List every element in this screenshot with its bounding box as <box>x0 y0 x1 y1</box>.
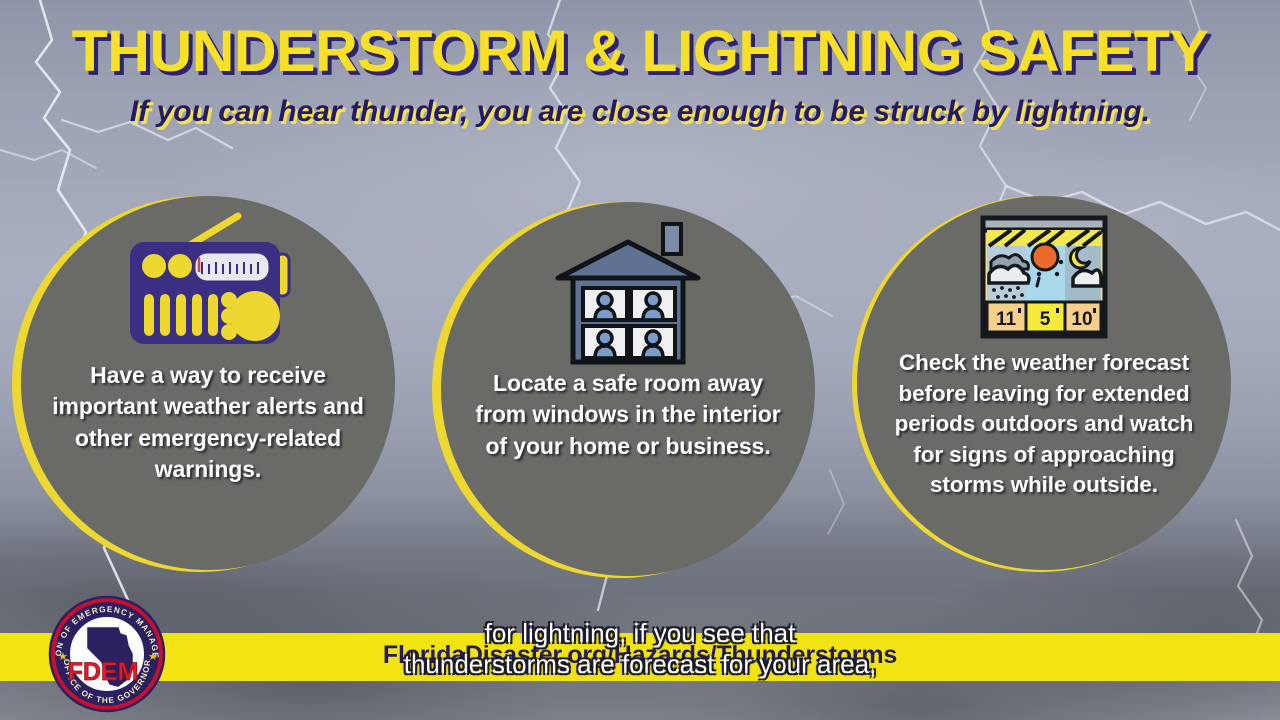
house-safe-room-icon <box>553 220 703 366</box>
card-caption-1: Have a way to receive important weather … <box>52 360 364 485</box>
subtitle-line-2: thunderstorms are forecast for your area… <box>0 649 1280 680</box>
icon-slot-2 <box>553 218 703 368</box>
card-caption-3: Check the weather forecast before leavin… <box>879 348 1209 501</box>
forecast-temp-day2: 5 <box>1040 309 1051 330</box>
forecast-temp-day1: 11 <box>996 309 1017 330</box>
safety-tips-row: Have a way to receive important weather … <box>0 196 1280 576</box>
card-disc-2: Locate a safe room away from windows in … <box>441 202 815 576</box>
safety-card-forecast: 11 5 10 Check the weather forecast befor… <box>852 196 1228 572</box>
infographic-screenshot: THUNDERSTORM & LIGHTNING SAFETY If you c… <box>0 0 1280 720</box>
weather-forecast-panel-icon: 11 5 10 <box>977 212 1111 344</box>
page-title: THUNDERSTORM & LIGHTNING SAFETY <box>0 0 1280 83</box>
icon-slot-3: 11 5 10 <box>977 208 1111 348</box>
card-disc-3: 11 5 10 Check the weather forecast befor… <box>857 196 1231 570</box>
emergency-radio-icon <box>116 210 300 360</box>
video-subtitle-overlay: for lightning, if you see that thunderst… <box>0 618 1280 679</box>
page-subtitle: If you can hear thunder, you are close e… <box>0 83 1280 129</box>
safety-card-radio: Have a way to receive important weather … <box>12 196 388 572</box>
card-caption-2: Locate a safe room away from windows in … <box>472 368 784 462</box>
header-block: THUNDERSTORM & LIGHTNING SAFETY If you c… <box>0 0 1280 129</box>
card-disc-1: Have a way to receive important weather … <box>21 196 395 570</box>
safety-card-house: Locate a safe room away from windows in … <box>432 202 808 578</box>
subtitle-line-1: for lightning, if you see that <box>0 618 1280 649</box>
icon-slot-1 <box>116 210 300 360</box>
forecast-temp-day3: 10 <box>1071 309 1092 330</box>
